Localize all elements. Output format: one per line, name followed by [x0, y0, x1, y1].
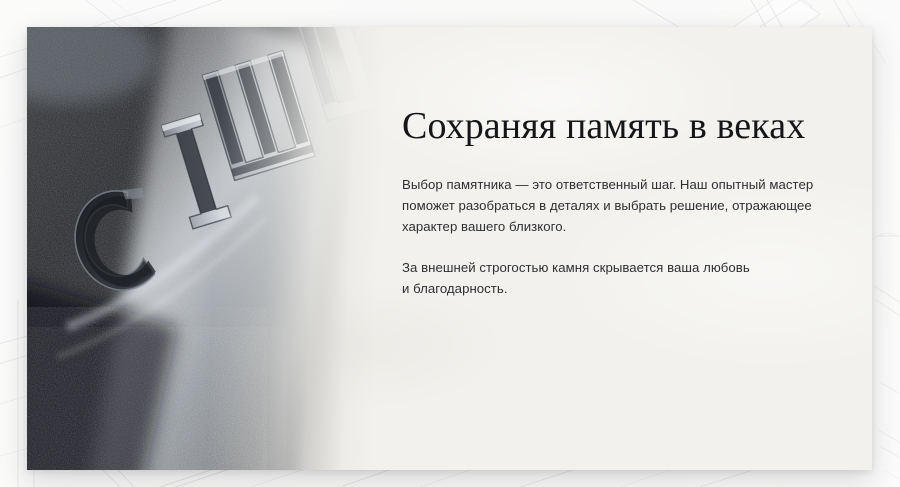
paragraph-line: За внешней строгостью камня скрывается в… — [402, 257, 852, 278]
granite-photo — [27, 27, 387, 470]
text-content: Сохраняя память в веках Выбор памятника … — [402, 27, 852, 470]
intro-paragraph: Выбор памятника — это ответственный шаг.… — [402, 174, 852, 238]
paragraph-line: и благодарность. — [402, 278, 852, 299]
closing-paragraph: За внешней строгостью камня скрывается в… — [402, 257, 852, 300]
granite-photo-illustration — [27, 27, 387, 470]
paragraph-line: Выбор памятника — это ответственный шаг.… — [402, 174, 852, 195]
paragraph-line: поможет разобраться в деталях и выбрать … — [402, 195, 852, 216]
hero-card: Сохраняя память в веках Выбор памятника … — [27, 27, 872, 470]
page-title: Сохраняя память в веках — [402, 105, 852, 148]
paragraph-line: характер вашего близкого. — [402, 216, 852, 237]
